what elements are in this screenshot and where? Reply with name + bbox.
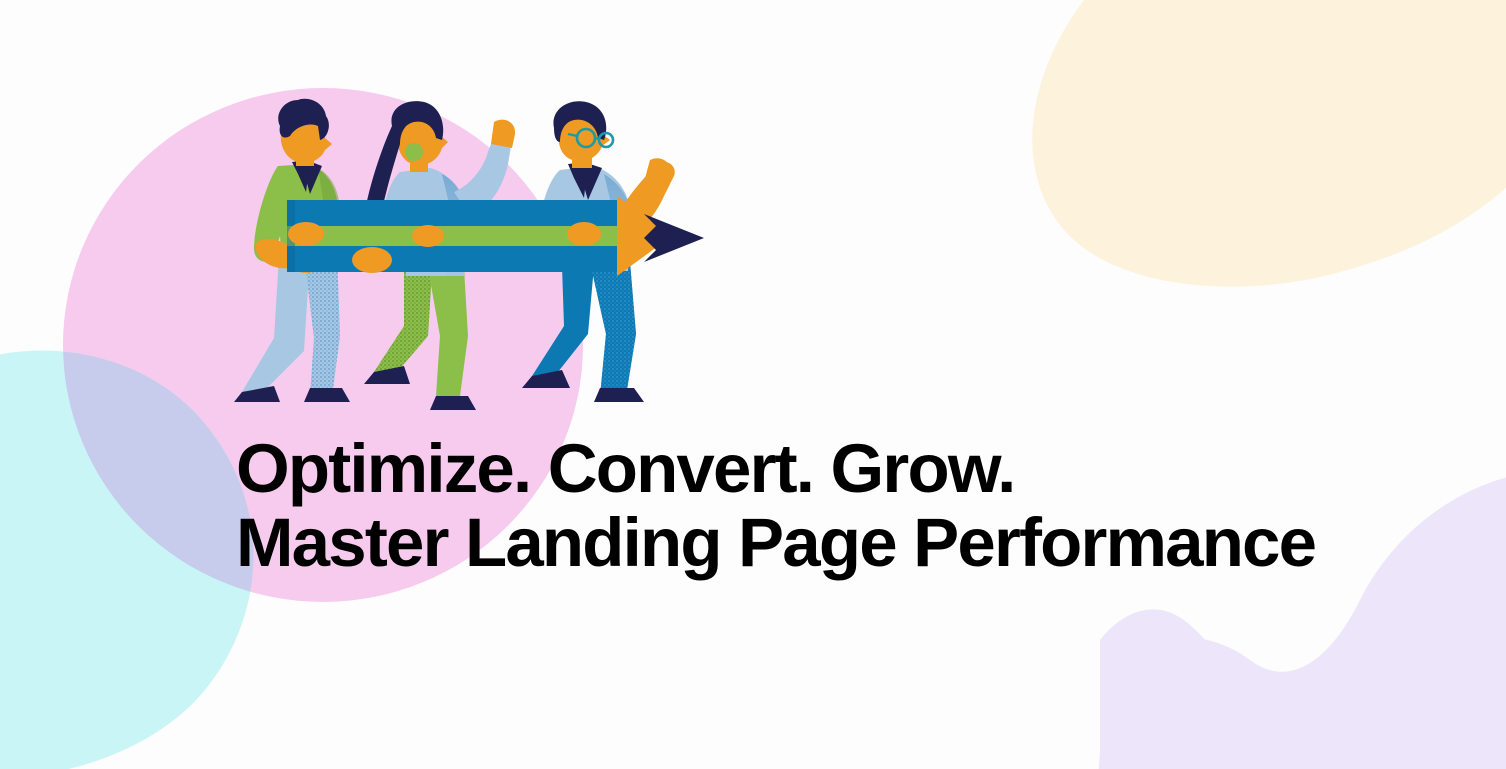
pencil-graphite-tip <box>644 214 704 262</box>
headline-block: Optimize. Convert. Grow. Master Landing … <box>236 432 1466 580</box>
hand-left <box>288 222 324 246</box>
cyan-pink-overlap <box>0 351 253 769</box>
earring <box>405 143 423 161</box>
headline-line-1: Optimize. Convert. Grow. <box>236 432 1466 506</box>
hand-left-lower <box>352 247 392 273</box>
cream-blob <box>1032 0 1506 287</box>
hero-banner: Optimize. Convert. Grow. Master Landing … <box>0 0 1506 769</box>
three-people-carrying-giant-pencil-illustration <box>232 96 712 426</box>
lavender-blob <box>1100 589 1506 769</box>
headline-line-2: Master Landing Page Performance <box>236 506 1466 580</box>
background-decoration <box>0 0 1506 769</box>
hand-right <box>567 222 601 246</box>
cyan-blob <box>0 351 253 769</box>
pencil-stripe-bottom <box>287 246 617 272</box>
hand-center <box>412 225 444 247</box>
pencil-stripe-top <box>287 200 617 226</box>
